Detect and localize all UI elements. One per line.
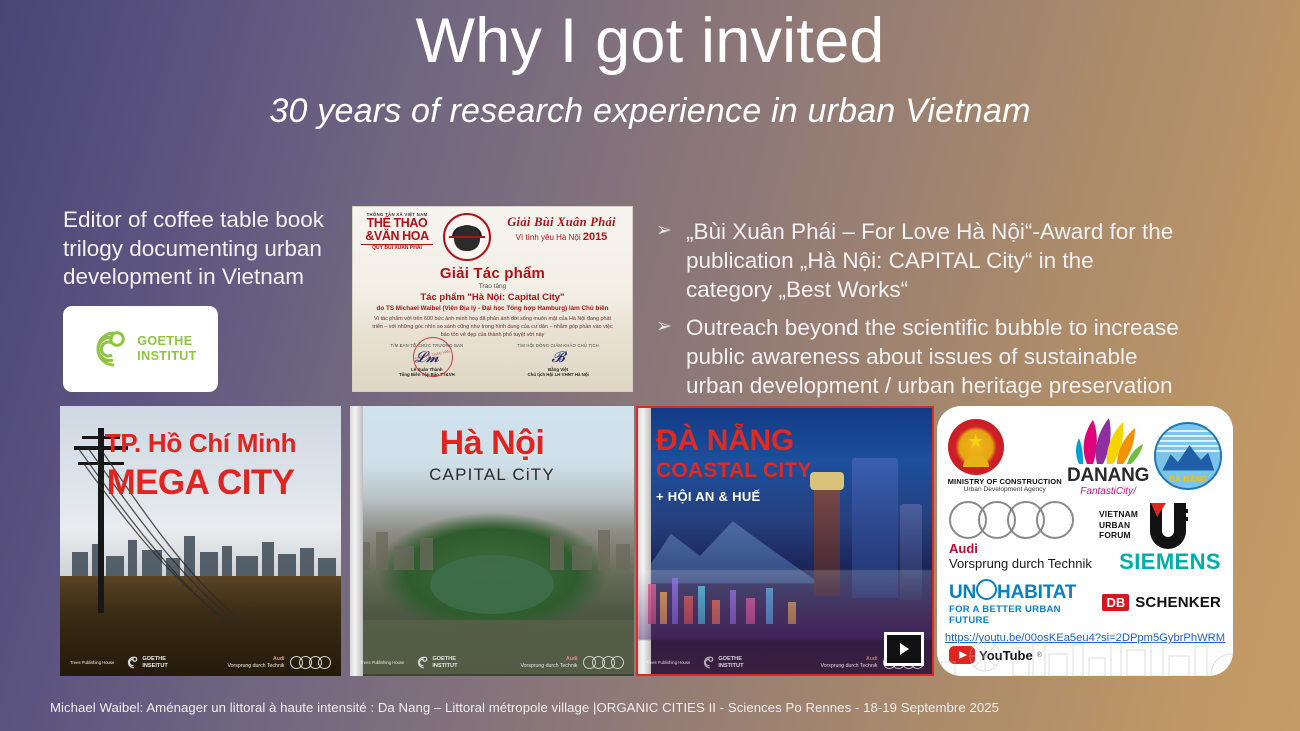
- vuf-u-icon: [1142, 501, 1190, 549]
- danang-tower-a-crown: [810, 472, 844, 490]
- goethe-mini-logo: GOETHE INSEITUT: [124, 655, 167, 670]
- un-habitat-line-1: UN: [949, 582, 976, 603]
- sponsor-row-1: ★ MINISTRY OF CONSTRUCTION Urban Develop…: [937, 406, 1233, 499]
- goethe-mini-logo: GOETHE INSTITUT: [700, 655, 743, 670]
- audi-mini-text: Audi Vorsprung durch Technik: [521, 656, 578, 669]
- audi-rings-icon: [290, 656, 332, 669]
- hanoi-footer-logos: Trees Publishing House GOETHE INSTITUT A…: [350, 655, 634, 670]
- hcmc-title-block: TP. Hồ Chí Minh MEGA CITY: [60, 428, 341, 503]
- goethe-mini-line-1: GOETHE: [142, 656, 167, 662]
- publisher-logo: Trees Publishing House: [360, 660, 404, 665]
- bullet-list: ➢ „Bùi Xuân Phái – For Love Hà Nội“-Awar…: [656, 218, 1186, 411]
- partner-logos-card: ★ MINISTRY OF CONSTRUCTION Urban Develop…: [937, 406, 1233, 676]
- ministry-line-2: Urban Development Agency: [948, 486, 1062, 493]
- slide-footer: Michael Waibel: Aménager un littoral à h…: [50, 700, 999, 715]
- goethe-spiral-icon: [84, 326, 130, 372]
- publisher-logo: Trees Publishing House: [646, 660, 690, 665]
- book-cover-danang: ĐÀ NẴNG COASTAL CITY + HỘI AN & HUẾ Tree…: [636, 406, 934, 676]
- certificate-header: THÔNG TÂN XÃ VIỆT NAM THỂ THAO &VĂN HOA …: [353, 207, 632, 261]
- page-title: Why I got invited: [0, 8, 1300, 74]
- tt-vh-masthead: THÔNG TÂN XÃ VIỆT NAM THỂ THAO &VĂN HOA …: [361, 213, 433, 251]
- intro-text: Editor of coffee table book trilogy docu…: [63, 206, 348, 292]
- db-mark: DB: [1102, 594, 1129, 611]
- book-cover-hanoi: Hà Nội CAPITAL CiTY Trees Publishing Hou…: [350, 406, 634, 676]
- vietnam-urban-forum-logo: VIETNAM URBAN FORUM: [1099, 501, 1219, 549]
- hcmc-title-line-1: TP. Hồ Chí Minh: [60, 428, 341, 459]
- audi-mini-line-2: Vorsprung durch Technik: [521, 663, 578, 670]
- schenker-wordmark: SCHENKER: [1135, 594, 1221, 611]
- award-script-name: Giải Bùi Xuân Phái: [499, 215, 624, 230]
- danang-title-block: ĐÀ NẴNG COASTAL CITY + HỘI AN & HUẾ: [656, 424, 812, 504]
- un-habitat-logo: UNHABITAT FOR A BETTER URBAN FUTURE: [949, 579, 1102, 626]
- audi-wordmark: Audi: [949, 541, 1099, 556]
- award-sub-text: Vì tình yêu Hà Nội: [516, 233, 581, 242]
- signature-right-title: Chủ tịch Hội LH VHNT Hà Nội: [502, 372, 614, 377]
- danang-title-line-1: ĐÀ NẴNG: [656, 424, 812, 458]
- danang-title-line-2: COASTAL CITY: [656, 459, 812, 483]
- goethe-spiral-icon: [414, 655, 429, 670]
- award-certificate-image: THÔNG TÂN XÃ VIỆT NAM THỂ THAO &VĂN HOA …: [352, 206, 633, 392]
- goethe-line-1: GOETHE: [137, 334, 196, 349]
- slide-root: Why I got invited 30 years of research e…: [0, 0, 1300, 731]
- audi-rings-icon: [949, 501, 1099, 539]
- city-skyline-outline: [937, 624, 1233, 676]
- certificate-body: Giải Tác phẩm Trao tặng Tác phẩm "Hà Nội…: [353, 265, 632, 339]
- audi-mini-line-2: Vorsprung durch Technik: [821, 663, 878, 670]
- bullet-item: ➢ „Bùi Xuân Phái – For Love Hà Nội“-Awar…: [656, 218, 1186, 304]
- signature-right-scribble: 𝓑: [502, 351, 614, 366]
- certificate-title: Giải Tác phẩm: [363, 265, 622, 282]
- audi-mini-text: Audi Vorsprung durch Technik: [821, 656, 878, 669]
- goethe-mini-line-2: INSTITUT: [432, 663, 457, 669]
- goethe-mini-line-2: INSTITUT: [718, 663, 743, 669]
- hcmc-title-line-2: MEGA CITY: [60, 463, 341, 503]
- goethe-mini-wordmark: GOETHE INSTITUT: [432, 656, 457, 668]
- danang-wordmark: DANANG: [1063, 466, 1153, 485]
- audi-mini-logo: Audi Vorsprung durch Technik: [521, 656, 625, 669]
- vuf-line-1: VIETNAM: [1099, 509, 1138, 520]
- un-habitat-wordmark: UNHABITAT: [949, 579, 1102, 604]
- un-habitat-line-2: HABITAT: [997, 582, 1076, 603]
- goethe-mini-line-1: GOETHE: [718, 656, 743, 662]
- audi-mini-text: Audi Vorsprung durch Technik: [228, 656, 285, 669]
- hanoi-title-line-1: Hà Nội: [350, 424, 634, 463]
- arrow-bullet-icon: ➢: [656, 218, 686, 304]
- audi-mini-line-1: Audi: [566, 656, 578, 662]
- goethe-institut-logo-card: GOETHE INSTITUT: [63, 306, 218, 392]
- hcmc-footer-logos: Trees Publishing House GOETHE INSEITUT A…: [60, 655, 341, 670]
- goethe-mini-wordmark: GOETHE INSTITUT: [718, 656, 743, 668]
- ministry-caption: MINISTRY OF CONSTRUCTION Urban Developme…: [948, 477, 1062, 493]
- goethe-mini-wordmark: GOETHE INSEITUT: [142, 656, 167, 668]
- audi-mini-line-1: Audi: [273, 656, 285, 662]
- masthead-line-1: THỂ THAO: [361, 217, 433, 230]
- vuf-line-3: FORUM: [1099, 530, 1138, 541]
- award-year: 2015: [583, 231, 607, 243]
- bui-xuan-phai-portrait-seal: [443, 213, 491, 261]
- video-play-button[interactable]: [884, 632, 924, 666]
- certificate-author-line: do TS Michael Waibel (Viện Địa lý - Đại …: [363, 305, 622, 312]
- goethe-line-2: INSTITUT: [137, 349, 196, 364]
- goethe-wordmark: GOETHE INSTITUT: [137, 334, 196, 364]
- goethe-mini-logo: GOETHE INSTITUT: [414, 655, 457, 670]
- danang-river-reflection: [638, 570, 932, 640]
- arrow-bullet-icon: ➢: [656, 314, 686, 400]
- hanoi-title-block: Hà Nội CAPITAL CiTY: [350, 424, 634, 485]
- globe-icon: [976, 579, 997, 600]
- masthead-line-2: &VĂN HOA: [361, 230, 433, 243]
- seal-bar: [449, 236, 485, 238]
- goethe-spiral-icon: [124, 655, 139, 670]
- audi-logo: Audi Vorsprung durch Technik: [949, 501, 1099, 571]
- goethe-spiral-icon: [700, 655, 715, 670]
- ministry-of-construction-logo: ★ MINISTRY OF CONSTRUCTION Urban Develop…: [948, 419, 1062, 493]
- vietnam-emblem-icon: ★: [948, 419, 1004, 475]
- goethe-mini-line-2: INSEITUT: [142, 663, 167, 669]
- hanoi-title-line-2: CAPITAL CiTY: [350, 465, 634, 485]
- gear-icon: [963, 455, 989, 467]
- masthead-line-3: QUỸ BÙI XUÂN PHÁI: [361, 244, 433, 251]
- audi-rings-icon: [583, 656, 625, 669]
- award-name-block: Giải Bùi Xuân Phái Vì tình yêu Hà Nội 20…: [499, 213, 624, 243]
- certificate-subtitle: Trao tặng: [363, 283, 622, 290]
- certificate-work: Tác phẩm "Hà Nội: Capital City": [363, 292, 622, 303]
- star-icon: ★: [967, 433, 984, 452]
- bullet-text: Outreach beyond the scientific bubble to…: [686, 314, 1186, 400]
- signature-right: T/M HỘI ĐỒNG GIÁM KHẢO CHỦ TỊCH 𝓑 Bằng V…: [502, 343, 614, 377]
- danang-tagline: FantastiCity/: [1063, 486, 1153, 497]
- sponsor-row-3: UNHABITAT FOR A BETTER URBAN FUTURE DB S…: [937, 575, 1233, 626]
- audi-mini-logo: Audi Vorsprung durch Technik: [228, 656, 332, 669]
- award-subline: Vì tình yêu Hà Nội 2015: [499, 231, 624, 243]
- vuf-line-2: URBAN: [1099, 520, 1138, 531]
- bullet-item: ➢ Outreach beyond the scientific bubble …: [656, 314, 1186, 400]
- certificate-signatures: T/M BAN TỔ CHỨC TRƯỞNG BAN 𝓛𝓶 Lê Xuân Th…: [353, 339, 632, 377]
- audi-slogan: Vorsprung durch Technik: [949, 556, 1099, 571]
- certificate-citation: Vì tác phẩm với trên 600 bức ảnh minh ho…: [363, 315, 622, 339]
- badge-label: ĐÀ NẴNG: [1156, 475, 1220, 484]
- page-subtitle: 30 years of research experience in urban…: [0, 92, 1300, 131]
- danang-city-badge-icon: ĐÀ NẴNG: [1154, 422, 1222, 490]
- sponsor-row-2: Audi Vorsprung durch Technik VIETNAM URB…: [937, 499, 1233, 575]
- vuf-wordmark: VIETNAM URBAN FORUM: [1099, 509, 1138, 541]
- audi-mini-line-2: Vorsprung durch Technik: [228, 663, 285, 670]
- danang-sail-icon: [1063, 414, 1153, 466]
- audi-mini-line-1: Audi: [866, 656, 878, 662]
- danang-title-line-3: + HỘI AN & HUẾ: [656, 489, 812, 504]
- publisher-logo: Trees Publishing House: [70, 660, 114, 665]
- siemens-wordmark: SIEMENS: [1099, 549, 1221, 575]
- ministry-line-1: MINISTRY OF CONSTRUCTION: [948, 477, 1062, 486]
- bullet-text: „Bùi Xuân Phái – For Love Hà Nội“-Award …: [686, 218, 1186, 304]
- goethe-mini-line-1: GOETHE: [432, 656, 457, 662]
- book-cover-hcmc: TP. Hồ Chí Minh MEGA CITY Trees Publishi…: [60, 406, 341, 676]
- signature-right-role: T/M HỘI ĐỒNG GIÁM KHẢO CHỦ TỊCH: [502, 343, 614, 348]
- db-schenker-logo: DB SCHENKER: [1102, 594, 1221, 611]
- un-habitat-tagline: FOR A BETTER URBAN FUTURE: [949, 604, 1102, 626]
- play-icon: [887, 635, 921, 663]
- danang-fantasticity-logo: DANANG FantastiCity/: [1063, 414, 1153, 497]
